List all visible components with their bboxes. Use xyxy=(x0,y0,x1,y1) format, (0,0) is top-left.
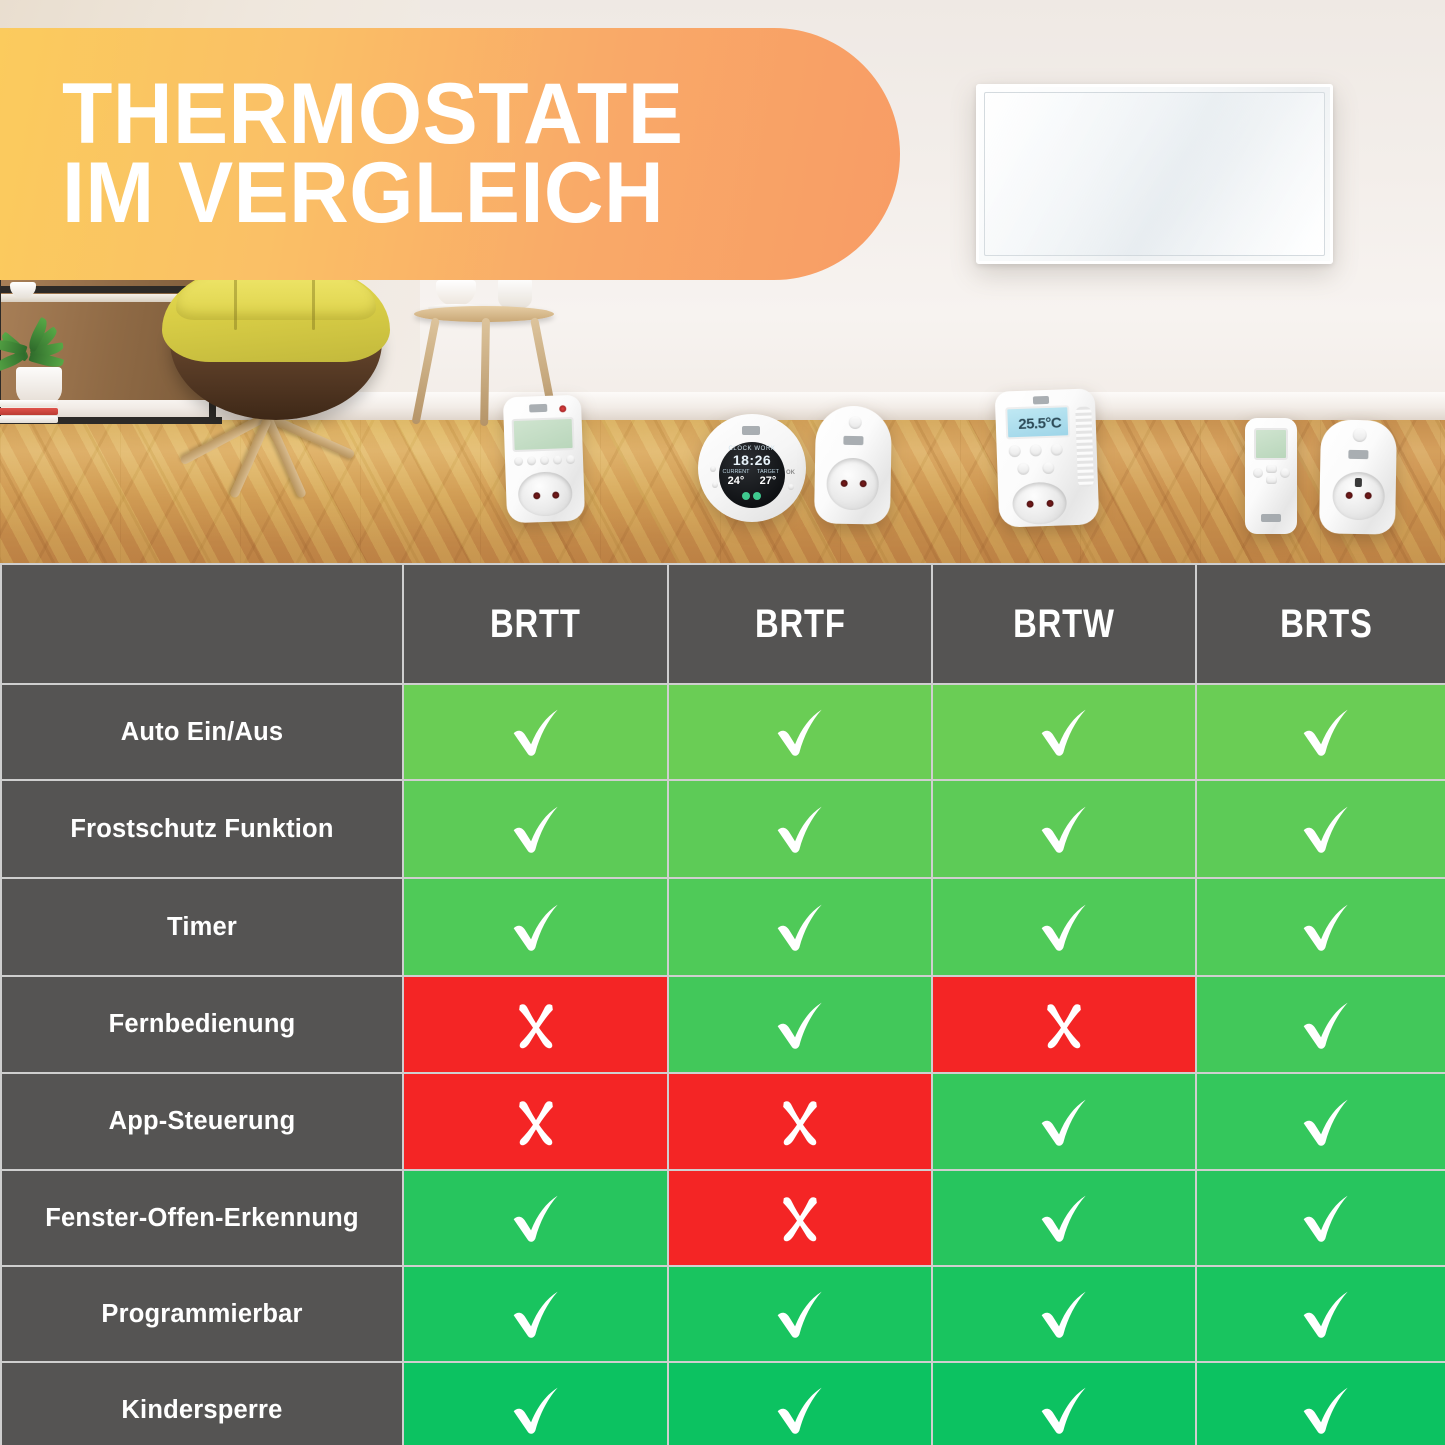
check-icon xyxy=(669,685,931,779)
cell-brts-5 xyxy=(1197,1171,1445,1265)
check-icon xyxy=(669,879,931,975)
check-icon xyxy=(933,1171,1195,1265)
banner-line-2: IM VERGLEICH xyxy=(62,154,683,233)
row-label-text: Fenster-Offen-Erkennung xyxy=(45,1204,358,1233)
vase xyxy=(498,278,532,308)
check-icon xyxy=(404,879,667,975)
check-icon xyxy=(669,1363,931,1445)
check-icon xyxy=(1197,879,1445,975)
check-icon xyxy=(404,1267,667,1361)
cell-brts-2 xyxy=(1197,879,1445,975)
check-icon xyxy=(1197,1074,1445,1169)
column-header-label: BRTF xyxy=(755,602,846,647)
check-icon xyxy=(1197,1267,1445,1361)
row-label-2: Timer xyxy=(2,879,402,975)
books-stack xyxy=(0,400,58,426)
row-label-text: Programmierbar xyxy=(101,1300,302,1329)
check-icon xyxy=(933,1267,1195,1361)
check-icon xyxy=(404,1363,667,1445)
check-icon xyxy=(933,781,1195,877)
brtw-temp-value: 25.5°C xyxy=(1008,414,1073,433)
check-icon xyxy=(933,685,1195,779)
cross-icon xyxy=(669,1074,931,1169)
plant-leaves xyxy=(0,324,80,372)
row-label-text: Kindersperre xyxy=(121,1396,282,1425)
check-icon xyxy=(933,1363,1195,1445)
row-label-4: App-Steuerung xyxy=(2,1074,402,1169)
row-label-text: Frostschutz Funktion xyxy=(70,815,333,844)
cell-brtw-4 xyxy=(933,1074,1195,1169)
row-label-text: Fernbedienung xyxy=(109,1010,296,1039)
check-icon xyxy=(1197,977,1445,1072)
row-label-text: Timer xyxy=(167,913,237,942)
cell-brtw-6 xyxy=(933,1267,1195,1361)
cell-brtf-7 xyxy=(669,1363,931,1445)
row-label-1: Frostschutz Funktion xyxy=(2,781,402,877)
title-banner: THERMOSTATE IM VERGLEICH xyxy=(0,28,900,280)
cell-brtf-1 xyxy=(669,781,931,877)
row-label-0: Auto Ein/Aus xyxy=(2,685,402,779)
coffee-cup xyxy=(436,280,476,306)
cell-brtt-4 xyxy=(404,1074,667,1169)
product-brts-socket xyxy=(1319,419,1397,534)
check-icon xyxy=(404,1171,667,1265)
check-icon xyxy=(669,977,931,1072)
cell-brtf-6 xyxy=(669,1267,931,1361)
cell-brtf-2 xyxy=(669,879,931,975)
banner-line-1: THERMOSTATE xyxy=(62,75,683,154)
cell-brts-4 xyxy=(1197,1074,1445,1169)
cell-brtw-5 xyxy=(933,1171,1195,1265)
cell-brtt-3 xyxy=(404,977,667,1072)
cell-brtw-7 xyxy=(933,1363,1195,1445)
check-icon xyxy=(1197,1171,1445,1265)
row-label-3: Fernbedienung xyxy=(2,977,402,1072)
check-icon xyxy=(404,781,667,877)
check-icon xyxy=(933,879,1195,975)
column-header-label: BRTW xyxy=(1013,602,1115,647)
cross-icon xyxy=(669,1171,931,1265)
cell-brtt-7 xyxy=(404,1363,667,1445)
column-header-brts: BRTS xyxy=(1197,565,1445,683)
cell-brtf-0 xyxy=(669,685,931,779)
product-brtw: 25.5°C xyxy=(995,388,1100,527)
product-brtf-socket xyxy=(814,405,892,524)
cell-brtf-4 xyxy=(669,1074,931,1169)
product-brtt xyxy=(503,395,585,524)
cross-icon xyxy=(404,1074,667,1169)
check-icon xyxy=(1197,1363,1445,1445)
cross-icon xyxy=(933,977,1195,1072)
brtf-current-value: 24° xyxy=(722,475,750,487)
cell-brtt-5 xyxy=(404,1171,667,1265)
brtf-ok-label: OK xyxy=(786,470,795,476)
cell-brts-7 xyxy=(1197,1363,1445,1445)
cell-brtw-2 xyxy=(933,879,1195,975)
product-brts-remote xyxy=(1245,418,1297,534)
row-label-7: Kindersperre xyxy=(2,1363,402,1445)
cross-icon xyxy=(404,977,667,1072)
column-header-brtf: BRTF xyxy=(669,565,931,683)
cell-brtw-3 xyxy=(933,977,1195,1072)
cell-brts-0 xyxy=(1197,685,1445,779)
cell-brts-1 xyxy=(1197,781,1445,877)
cell-brtf-3 xyxy=(669,977,931,1072)
check-icon xyxy=(669,1267,931,1361)
cell-brtf-5 xyxy=(669,1171,931,1265)
row-label-5: Fenster-Offen-Erkennung xyxy=(2,1171,402,1265)
check-icon xyxy=(1197,781,1445,877)
cell-brtt-1 xyxy=(404,781,667,877)
infrared-heating-panel xyxy=(976,84,1333,264)
cell-brts-3 xyxy=(1197,977,1445,1072)
product-brtf: CLOCK WORK 18:26 CURRENT TARGET 24° 27° … xyxy=(698,414,806,522)
egg-chair xyxy=(162,266,402,446)
row-label-text: Auto Ein/Aus xyxy=(121,718,283,747)
cell-brtt-2 xyxy=(404,879,667,975)
row-label-text: App-Steuerung xyxy=(109,1107,296,1136)
check-icon xyxy=(404,685,667,779)
column-header-label: BRTS xyxy=(1280,602,1373,647)
cell-brtt-0 xyxy=(404,685,667,779)
cell-brtt-6 xyxy=(404,1267,667,1361)
check-icon xyxy=(1197,685,1445,779)
comparison-table: BRTTBRTFBRTWBRTSAuto Ein/AusFrostschutz … xyxy=(0,563,1445,1445)
cell-brts-6 xyxy=(1197,1267,1445,1361)
brtw-lcd: 25.5°C xyxy=(1005,405,1070,439)
row-label-6: Programmierbar xyxy=(2,1267,402,1361)
table-corner-cell xyxy=(2,565,402,683)
brtf-target-value: 27° xyxy=(754,475,782,487)
cell-brtw-0 xyxy=(933,685,1195,779)
column-header-label: BRTT xyxy=(490,602,581,647)
check-icon xyxy=(669,781,931,877)
check-icon xyxy=(933,1074,1195,1169)
cell-brtw-1 xyxy=(933,781,1195,877)
brtf-clock: 18:26 xyxy=(722,452,782,468)
column-header-brtw: BRTW xyxy=(933,565,1195,683)
column-header-brtt: BRTT xyxy=(404,565,667,683)
